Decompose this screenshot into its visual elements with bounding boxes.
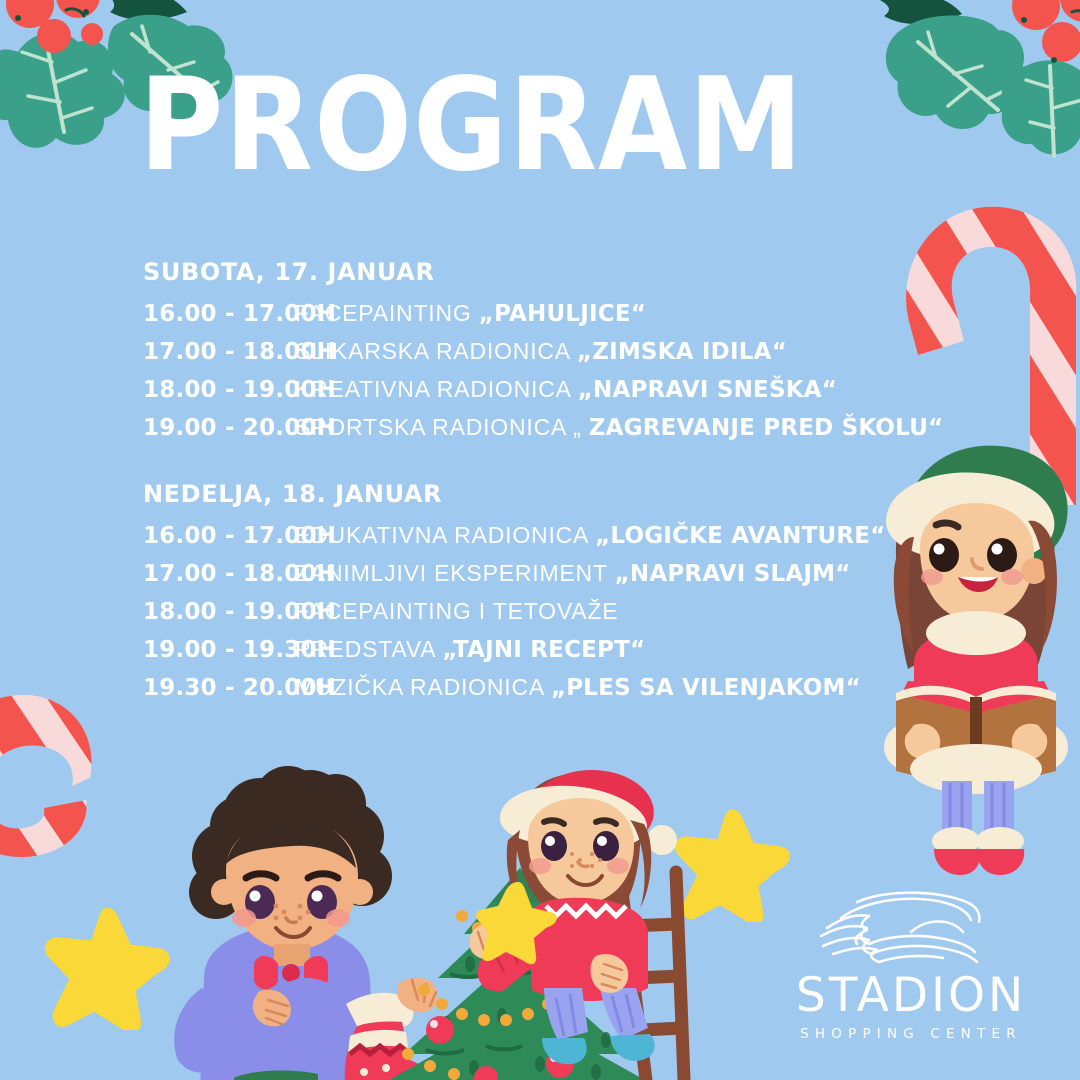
schedule-row: 17.00 - 18.00H SLIKARSKA RADIONICA „ZIMS… <box>143 338 963 365</box>
schedule-row: 19.00 - 19.30H PREDSTAVA „TAJNI RECEPT“ <box>143 636 963 663</box>
event-title: „LOGIČKE AVANTURE“ <box>595 523 885 549</box>
event-prefix: PREDSTAVA <box>295 636 442 662</box>
event-description: FACEPAINTING I TETOVAŽE <box>295 598 618 625</box>
event-title: ZAGREVANJE PRED ŠKOLU“ <box>589 415 944 441</box>
event-time: 17.00 - 18.00H <box>143 339 295 365</box>
event-description: KREATIVNA RADIONICA „NAPRAVI SNEŠKA“ <box>295 376 837 403</box>
event-prefix: MUZIČKA RADIONICA <box>295 674 551 700</box>
schedule-spacer <box>143 452 963 480</box>
program-poster: PROGRAM SUBOTA, 17. JANUAR 16.00 - 17.00… <box>0 0 1080 1080</box>
star-decoration-left <box>42 900 172 1030</box>
event-prefix: SLIKARSKA RADIONICA <box>295 338 577 364</box>
schedule-list: SUBOTA, 17. JANUAR 16.00 - 17.00H FACEPA… <box>143 258 963 712</box>
day-block-saturday: SUBOTA, 17. JANUAR 16.00 - 17.00H FACEPA… <box>143 258 963 441</box>
logo-subtitle: SHOPPING CENTER <box>785 1026 1037 1042</box>
event-prefix: KREATIVNA RADIONICA <box>295 376 578 402</box>
event-description: ZANIMLJIVI EKSPERIMENT „NAPRAVI SLAJM“ <box>295 560 851 587</box>
event-title: „NAPRAVI SNEŠKA“ <box>578 377 837 403</box>
schedule-row: 16.00 - 17.00H EDUKATIVNA RADIONICA „LOG… <box>143 522 963 549</box>
event-title: „NAPRAVI SLAJM“ <box>615 561 851 587</box>
event-prefix: FACEPAINTING I TETOVAŽE <box>295 598 618 624</box>
event-time: 18.00 - 19.00H <box>143 377 295 403</box>
character-boy-stocking <box>150 760 450 1080</box>
schedule-row: 16.00 - 17.00H FACEPAINTING „PAHULJICE“ <box>143 300 963 327</box>
event-description: SLIKARSKA RADIONICA „ZIMSKA IDILA“ <box>295 338 787 365</box>
candy-cane-bottom-left <box>0 690 130 950</box>
schedule-row: 17.00 - 18.00H ZANIMLJIVI EKSPERIMENT „N… <box>143 560 963 587</box>
event-prefix: SPORTSKA RADIONICA „ <box>295 414 589 440</box>
event-description: MUZIČKA RADIONICA „PLES SA VILENJAKOM“ <box>295 674 861 701</box>
day-heading-saturday: SUBOTA, 17. JANUAR <box>143 258 963 286</box>
event-title: „TAJNI RECEPT“ <box>442 637 645 663</box>
christmas-tree <box>390 858 680 1080</box>
character-girl-ladder <box>470 766 700 1080</box>
day-block-sunday: NEDELJA, 18. JANUAR 16.00 - 17.00H EDUKA… <box>143 480 963 701</box>
event-title: „ZIMSKA IDILA“ <box>577 339 787 365</box>
event-title: „PLES SA VILENJAKOM“ <box>551 675 861 701</box>
page-title: PROGRAM <box>139 62 804 190</box>
schedule-row: 19.00 - 20.00H SPORTSKA RADIONICA „ ZAGR… <box>143 414 963 441</box>
event-prefix: EDUKATIVNA RADIONICA <box>295 522 595 548</box>
stadion-logo: STADION SHOPPING CENTER <box>785 888 1037 1042</box>
event-time: 19.30 - 20.00H <box>143 675 295 701</box>
schedule-row: 18.00 - 19.00H FACEPAINTING I TETOVAŽE <box>143 598 963 625</box>
event-prefix: ZANIMLJIVI EKSPERIMENT <box>295 560 615 586</box>
event-time: 17.00 - 18.00H <box>143 561 295 587</box>
day-heading-sunday: NEDELJA, 18. JANUAR <box>143 480 963 508</box>
event-time: 18.00 - 19.00H <box>143 599 295 625</box>
holly-decoration-top-right <box>840 0 1080 200</box>
stadion-logo-mark <box>811 888 1011 974</box>
schedule-row: 19.30 - 20.00H MUZIČKA RADIONICA „PLES S… <box>143 674 963 701</box>
event-title: „PAHULJICE“ <box>479 301 646 327</box>
schedule-row: 18.00 - 19.00H KREATIVNA RADIONICA „NAPR… <box>143 376 963 403</box>
event-time: 19.00 - 20.00H <box>143 415 295 441</box>
event-prefix: FACEPAINTING <box>295 300 479 326</box>
event-description: PREDSTAVA „TAJNI RECEPT“ <box>295 636 645 663</box>
event-time: 19.00 - 19.30H <box>143 637 295 663</box>
event-description: FACEPAINTING „PAHULJICE“ <box>295 300 646 327</box>
event-description: EDUKATIVNA RADIONICA „LOGIČKE AVANTURE“ <box>295 522 886 549</box>
star-decoration-center <box>672 802 792 922</box>
event-time: 16.00 - 17.00H <box>143 523 295 549</box>
event-time: 16.00 - 17.00H <box>143 301 295 327</box>
logo-name: STADION <box>785 972 1037 1019</box>
event-description: SPORTSKA RADIONICA „ ZAGREVANJE PRED ŠKO… <box>295 414 943 441</box>
